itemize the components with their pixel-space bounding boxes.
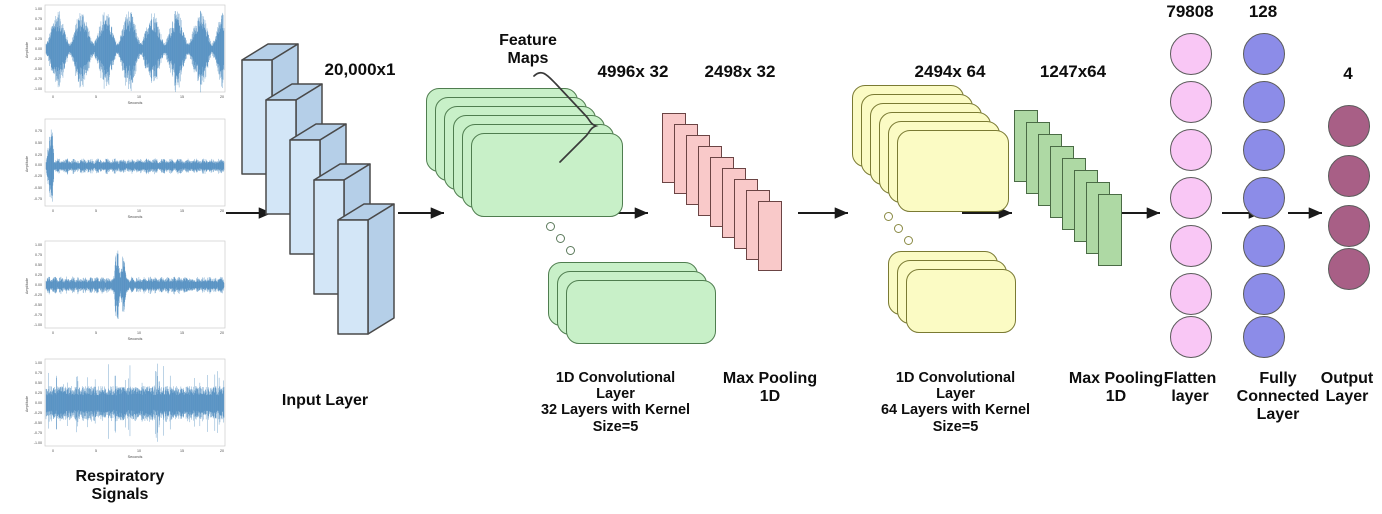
x-tick: 20	[220, 95, 224, 99]
flatten-units-label: 79808	[1145, 2, 1235, 21]
x-axis-label: Seconds	[128, 215, 143, 219]
y-tick: 1.00	[35, 243, 42, 247]
x-tick: 5	[95, 209, 97, 213]
y-tick: 0.50	[35, 141, 42, 145]
flatten-node	[1170, 225, 1212, 267]
feature-map-card	[906, 269, 1016, 333]
conv1-dim-label: 4996x 32	[578, 62, 688, 81]
output-units-label: 4	[1318, 64, 1378, 83]
x-tick: 15	[180, 95, 184, 99]
feature-map-card	[897, 130, 1009, 212]
dense-units-label: 128	[1228, 2, 1298, 21]
y-tick: -0.25	[34, 57, 42, 61]
feature-maps-line-2: Maps	[478, 50, 578, 68]
x-axis-label: Seconds	[128, 337, 143, 341]
y-tick: -1.00	[34, 87, 42, 91]
x-tick: 15	[180, 209, 184, 213]
x-tick: 20	[220, 209, 224, 213]
conv1-caption-line-2: Layer	[508, 386, 723, 402]
flatten-node	[1170, 129, 1212, 171]
y-tick: -0.25	[34, 293, 42, 297]
x-axis-label: Seconds	[128, 101, 143, 105]
flatten-caption: Flatten layer	[1150, 370, 1230, 406]
y-tick: 0.25	[35, 153, 42, 157]
pool1-dim-label: 2498x 32	[680, 62, 800, 81]
y-tick: -1.00	[34, 441, 42, 445]
y-tick: -0.25	[34, 174, 42, 178]
conv1-caption: 1D Convolutional Layer 32 Layers with Ke…	[508, 370, 723, 435]
input-layer-blocks	[240, 30, 400, 370]
pool1-caption-line-2: 1D	[700, 388, 840, 406]
flatten-node	[1170, 177, 1212, 219]
x-tick: 10	[137, 95, 141, 99]
y-tick: 0.75	[35, 17, 42, 21]
caption-line-1: Respiratory	[60, 468, 180, 486]
pool2-slab	[1098, 194, 1122, 266]
flatten-node	[1170, 273, 1212, 315]
x-tick: 10	[137, 331, 141, 335]
y-tick: 0.00	[35, 47, 42, 51]
respiratory-signals-caption: Respiratory Signals	[60, 468, 180, 504]
y-tick: 0.25	[35, 37, 42, 41]
flatten-node	[1170, 33, 1212, 75]
conv2-caption-line-4: Size=5	[848, 419, 1063, 435]
y-tick: -0.50	[34, 421, 42, 425]
x-tick: 20	[220, 449, 224, 453]
y-tick: 0.00	[35, 401, 42, 405]
flatten-caption-line-2: layer	[1150, 388, 1230, 406]
x-tick: 5	[95, 449, 97, 453]
x-tick: 10	[137, 209, 141, 213]
x-tick: 15	[180, 449, 184, 453]
input-dim-label: 20,000x1	[300, 60, 420, 79]
x-tick: 10	[137, 449, 141, 453]
x-tick: 0	[52, 95, 54, 99]
feature-map-card	[566, 280, 716, 344]
dense-node	[1243, 225, 1285, 267]
dense-caption-line-3: Layer	[1228, 406, 1328, 424]
dense-node	[1243, 129, 1285, 171]
x-tick: 0	[52, 209, 54, 213]
y-tick: 0.75	[35, 371, 42, 375]
x-tick: 5	[95, 331, 97, 335]
y-tick: -0.75	[34, 431, 42, 435]
y-tick: -0.50	[34, 186, 42, 190]
y-tick: -1.00	[34, 323, 42, 327]
conv1-caption-line-4: Size=5	[508, 419, 723, 435]
feature-maps-line-1: Feature	[478, 32, 578, 50]
flatten-caption-line-1: Flatten	[1150, 370, 1230, 388]
flatten-node	[1170, 316, 1212, 358]
output-node	[1328, 155, 1370, 197]
y-tick: -0.75	[34, 77, 42, 81]
conv2-caption-line-2: Layer	[848, 386, 1063, 402]
flatten-node	[1170, 81, 1212, 123]
output-caption-line-2: Layer	[1304, 388, 1382, 406]
pool1-caption: Max Pooling 1D	[700, 370, 840, 406]
caption-line-2: Signals	[60, 486, 180, 504]
dense-node	[1243, 273, 1285, 315]
signal-plot-1: 1.00 0.75 0.50 0.25 0.00 -0.25 -0.50 -0.…	[8, 2, 230, 106]
signal-plot-2: 0.75 0.50 0.25 0.00 -0.25 -0.50 -0.75 Am…	[8, 116, 230, 220]
input-block	[338, 204, 394, 334]
x-axis-label: Seconds	[128, 455, 143, 459]
y-tick: 0.00	[35, 283, 42, 287]
dense-node	[1243, 81, 1285, 123]
conv2-caption-line-3: 64 Layers with Kernel	[848, 402, 1063, 418]
x-tick: 20	[220, 331, 224, 335]
y-tick: 1.00	[35, 361, 42, 365]
cnn-architecture-diagram: 1.00 0.75 0.50 0.25 0.00 -0.25 -0.50 -0.…	[0, 0, 1382, 514]
conv2-caption: 1D Convolutional Layer 64 Layers with Ke…	[848, 370, 1063, 435]
pool2-dim-label: 1247x64	[1018, 62, 1128, 81]
conv1-caption-line-1: 1D Convolutional	[508, 370, 723, 386]
y-tick: 0.75	[35, 129, 42, 133]
dense-node	[1243, 177, 1285, 219]
y-axis-label: Amplitude	[25, 156, 29, 172]
y-tick: 0.25	[35, 273, 42, 277]
x-tick: 15	[180, 331, 184, 335]
y-tick: -0.75	[34, 313, 42, 317]
y-axis-label: Amplitude	[25, 396, 29, 412]
y-tick: 0.50	[35, 381, 42, 385]
signal-plot-3: 1.00 0.75 0.50 0.25 0.00 -0.25 -0.50 -0.…	[8, 238, 230, 342]
dense-node	[1243, 33, 1285, 75]
y-tick: -0.50	[34, 303, 42, 307]
dense-node	[1243, 316, 1285, 358]
signal-plot-4: 1.00 0.75 0.50 0.25 0.00 -0.25 -0.50 -0.…	[8, 356, 230, 460]
output-caption-line-1: Output	[1304, 370, 1382, 388]
y-tick: 0.50	[35, 27, 42, 31]
y-tick: 0.50	[35, 263, 42, 267]
output-node	[1328, 105, 1370, 147]
x-tick: 0	[52, 331, 54, 335]
x-tick: 5	[95, 95, 97, 99]
pool1-caption-line-1: Max Pooling	[700, 370, 840, 388]
conv2-dim-label: 2494x 64	[890, 62, 1010, 81]
y-tick: -0.75	[34, 197, 42, 201]
y-axis-label: Amplitude	[25, 278, 29, 294]
output-node	[1328, 205, 1370, 247]
x-tick: 0	[52, 449, 54, 453]
y-tick: 0.00	[35, 163, 42, 167]
output-caption: Output Layer	[1304, 370, 1382, 406]
output-node	[1328, 248, 1370, 290]
y-axis-label: Amplitude	[25, 42, 29, 58]
y-tick: 0.25	[35, 391, 42, 395]
y-tick: -0.25	[34, 411, 42, 415]
y-tick: -0.50	[34, 67, 42, 71]
y-tick: 1.00	[35, 7, 42, 11]
conv2-caption-line-1: 1D Convolutional	[848, 370, 1063, 386]
conv1-caption-line-3: 32 Layers with Kernel	[508, 402, 723, 418]
input-layer-caption: Input Layer	[250, 392, 400, 410]
feature-maps-label: Feature Maps	[478, 32, 578, 68]
pool1-slab	[758, 201, 782, 271]
y-tick: 0.75	[35, 253, 42, 257]
